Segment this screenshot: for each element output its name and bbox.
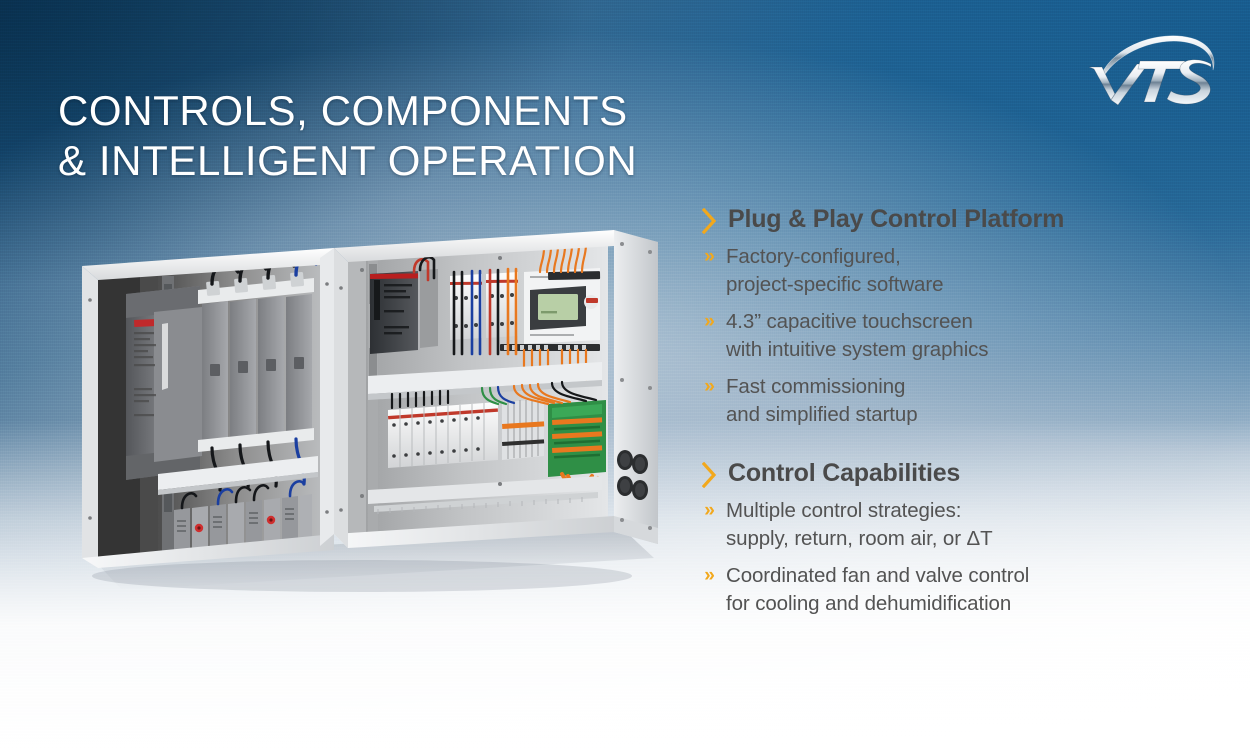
bullet-text: Coordinated fan and valve control for co…: [726, 562, 1029, 618]
cabinet-side-panel: [614, 230, 658, 544]
page-title: CONTROLS, COMPONENTS & INTELLIGENT OPERA…: [58, 86, 778, 186]
list-item: » Factory-configured, project-specific s…: [702, 243, 1172, 299]
vts-logo[interactable]: [1085, 28, 1225, 114]
bullet-text: Fast commissioning and simplified startu…: [726, 373, 918, 429]
electrical-control-cabinet-image: [62, 228, 672, 608]
chevron-right-icon: [702, 208, 717, 234]
feature-section-header: Control Capabilities: [702, 459, 1172, 488]
list-item: » Coordinated fan and valve control for …: [702, 562, 1172, 618]
variable-frequency-drive: [126, 286, 202, 480]
bullet-line: supply, return, room air, or ΔT: [726, 525, 993, 553]
din-rail-breakers-lower: [388, 402, 498, 468]
bullet-line: and simplified startup: [726, 401, 918, 429]
terminal-blocks-grey: [502, 399, 544, 460]
feature-section-header: Plug & Play Control Platform: [702, 205, 1172, 234]
bullet-line: for cooling and dehumidification: [726, 590, 1029, 618]
bullet-line: 4.3” capacitive touchscreen: [726, 308, 988, 336]
bullet-marker-icon: »: [702, 308, 717, 335]
bullet-line: Factory-configured,: [726, 243, 943, 271]
bullet-marker-icon: »: [702, 562, 717, 589]
feature-section: Control Capabilities » Multiple control …: [702, 459, 1172, 618]
bullet-marker-icon: »: [702, 497, 717, 524]
bullet-line: project-specific software: [726, 271, 943, 299]
bullet-text: Factory-configured, project-specific sof…: [726, 243, 943, 299]
chevron-right-icon: [702, 462, 717, 488]
plc-controller: [370, 269, 438, 354]
list-item: » Multiple control strategies: supply, r…: [702, 497, 1172, 553]
feature-section-title: Control Capabilities: [728, 459, 960, 487]
bullet-line: Coordinated fan and valve control: [726, 562, 1029, 590]
feature-bullet-list: » Factory-configured, project-specific s…: [702, 243, 1172, 429]
bullet-line: Multiple control strategies:: [726, 497, 993, 525]
cabinet-left-bay: [82, 248, 334, 568]
page-title-line-1: CONTROLS, COMPONENTS: [58, 86, 778, 136]
bullet-marker-icon: »: [702, 373, 717, 400]
feature-content-column: Plug & Play Control Platform » Factory-c…: [702, 205, 1172, 618]
slide-canvas: CONTROLS, COMPONENTS & INTELLIGENT OPERA…: [0, 0, 1250, 750]
feature-bullet-list: » Multiple control strategies: supply, r…: [702, 497, 1172, 618]
bullet-line: Fast commissioning: [726, 373, 918, 401]
bullet-text: 4.3” capacitive touchscreen with intuiti…: [726, 308, 988, 364]
bullet-marker-icon: »: [702, 243, 717, 270]
terminal-blocks-green: [548, 399, 624, 477]
bullet-text: Multiple control strategies: supply, ret…: [726, 497, 993, 553]
lcd-screen: [538, 294, 578, 320]
bullet-line: with intuitive system graphics: [726, 336, 988, 364]
page-title-line-2: & INTELLIGENT OPERATION: [58, 136, 778, 186]
list-item: » 4.3” capacitive touchscreen with intui…: [702, 308, 1172, 364]
cabinet-right-bay: [334, 230, 624, 548]
feature-section: Plug & Play Control Platform » Factory-c…: [702, 205, 1172, 429]
list-item: » Fast commissioning and simplified star…: [702, 373, 1172, 429]
feature-section-title: Plug & Play Control Platform: [728, 205, 1064, 233]
